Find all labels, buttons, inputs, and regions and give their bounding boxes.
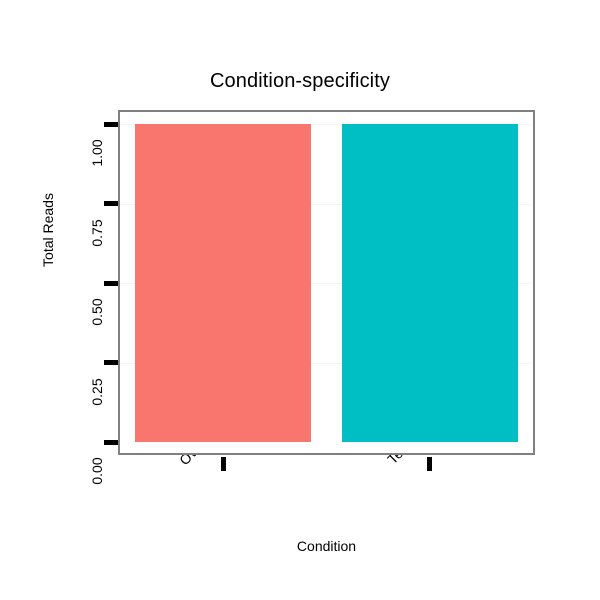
y-tick-mark: [104, 281, 118, 286]
y-tick-label: 0.75: [89, 203, 105, 263]
chart-title: Condition-specificity: [0, 70, 600, 93]
y-tick-mark: [104, 360, 118, 365]
x-tick-mark: [221, 457, 226, 471]
x-tick-mark: [427, 457, 432, 471]
plot-panel: [118, 110, 535, 455]
chart-container: Condition-specificity Total Reads 0.000.…: [0, 0, 600, 600]
y-tick-mark: [104, 201, 118, 206]
y-tick-label: 0.50: [89, 282, 105, 342]
bar-ovary: [135, 124, 311, 442]
y-tick-mark: [104, 122, 118, 127]
x-axis-title: Condition: [118, 538, 535, 554]
y-axis-title: Total Reads: [40, 170, 56, 290]
y-tick-label: 1.00: [89, 123, 105, 183]
bar-testis: [342, 124, 518, 442]
y-tick-label: 0.25: [89, 362, 105, 422]
y-tick-label: 0.00: [89, 441, 105, 501]
y-tick-mark: [104, 440, 118, 445]
